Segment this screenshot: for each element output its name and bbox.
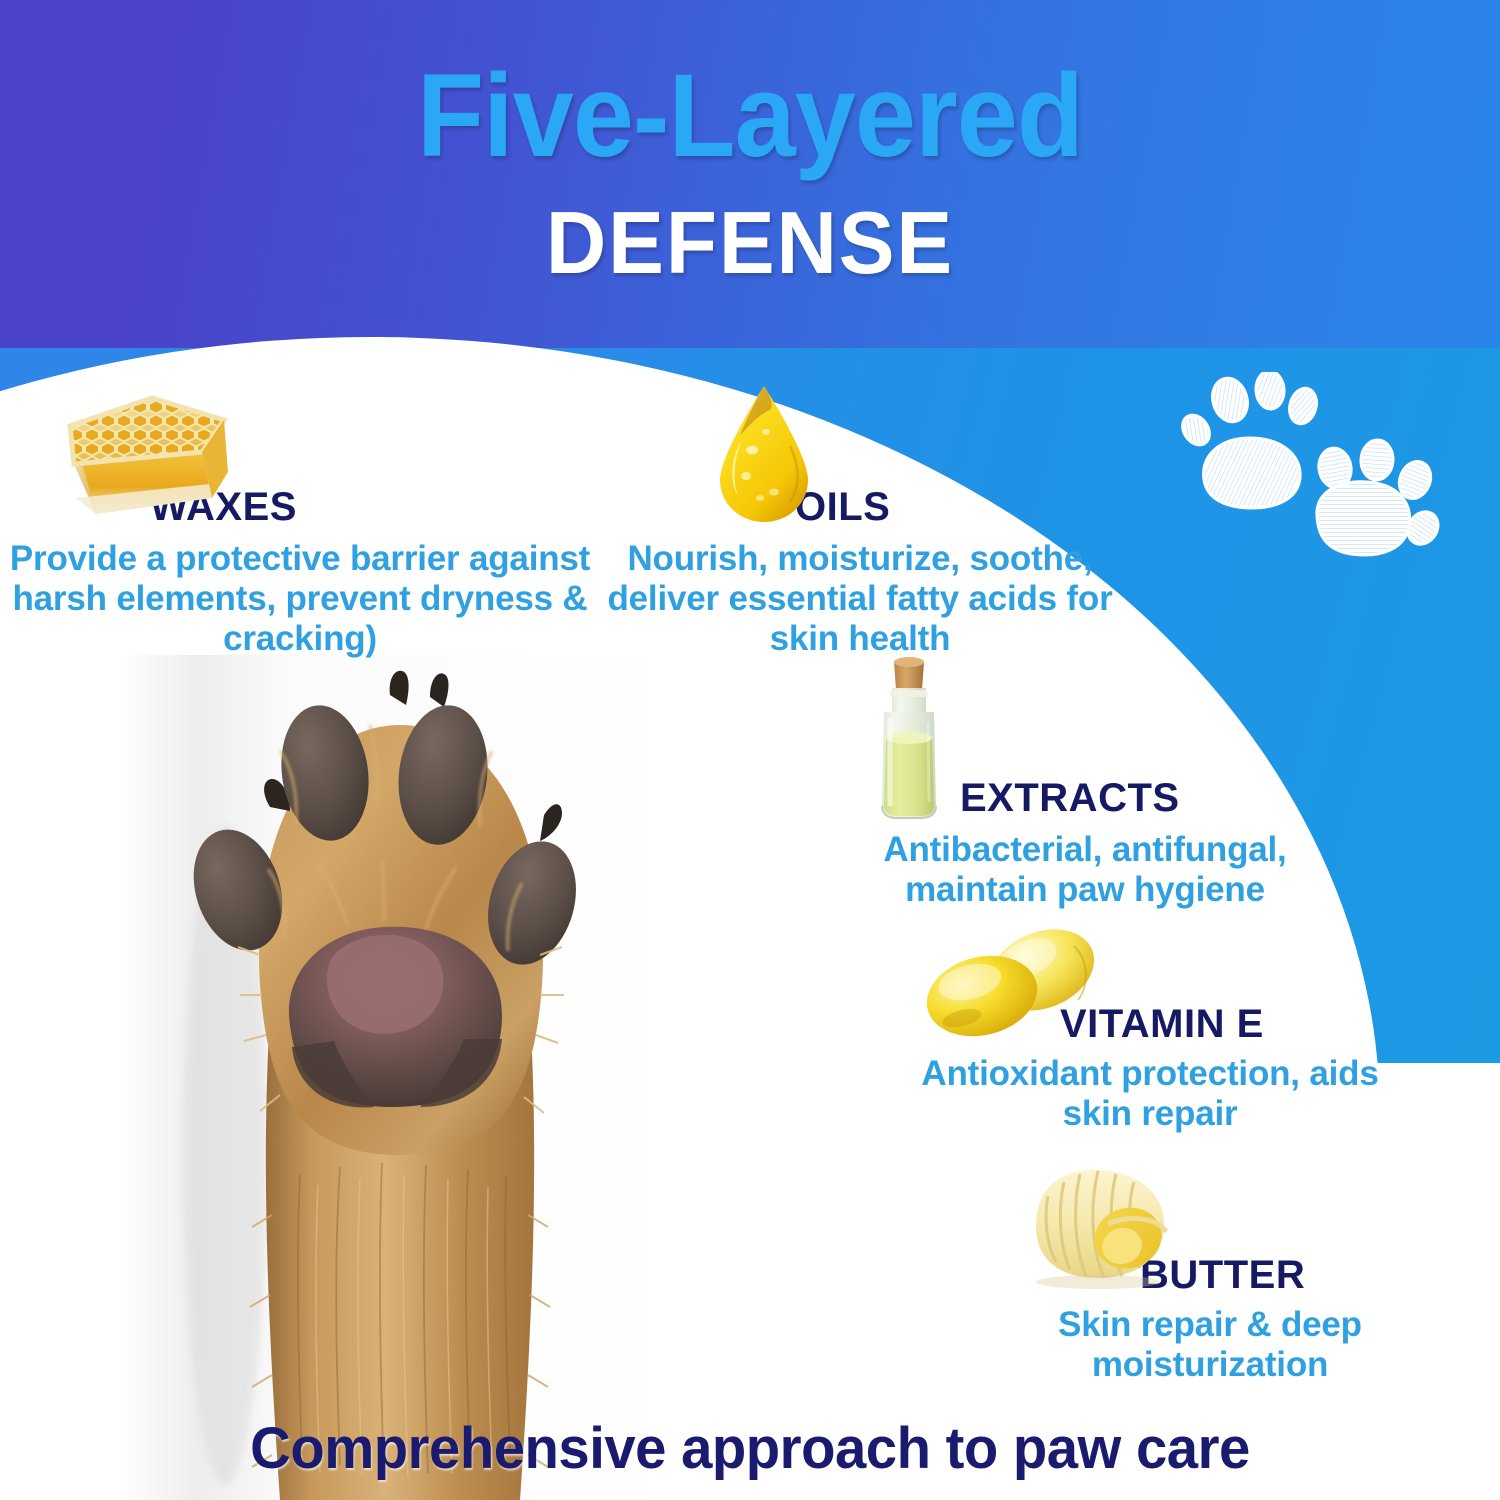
- ingredient-name-extracts: EXTRACTS: [960, 778, 1350, 818]
- ingredient-desc-extracts: Antibacterial, antifungal, maintain paw …: [820, 830, 1350, 910]
- infographic-canvas: Five-Layered DEFENSE: [0, 0, 1500, 1500]
- ingredient-desc-vitamin-e: Antioxidant protection, aids skin repair: [900, 1054, 1400, 1134]
- header-banner: Five-Layered DEFENSE: [0, 0, 1500, 348]
- ingredient-name-oils: OILS: [795, 487, 1140, 527]
- paw-prints-decor-icon: [1160, 372, 1490, 572]
- butter-curl-icon: [1012, 1160, 1202, 1290]
- gel-capsules-icon: [922, 926, 1112, 1051]
- page-subtitle: DEFENSE: [38, 198, 1463, 288]
- page-title: Five-Layered: [53, 56, 1448, 176]
- oil-drop-icon: [704, 380, 824, 530]
- ingredient-oils: OILS Nourish, moisturize, soothe, delive…: [580, 487, 1140, 659]
- extract-bottle-icon: [862, 656, 962, 826]
- dog-paw-photo: [120, 655, 680, 1500]
- tagline: Comprehensive approach to paw care: [23, 1415, 1478, 1482]
- ingredient-desc-waxes: Provide a protective barrier against har…: [0, 539, 600, 659]
- ingredient-desc-butter: Skin repair & deep moisturization: [1000, 1305, 1420, 1385]
- honeycomb-icon: [52, 386, 232, 536]
- ingredient-desc-oils: Nourish, moisturize, soothe, deliver ess…: [580, 539, 1140, 659]
